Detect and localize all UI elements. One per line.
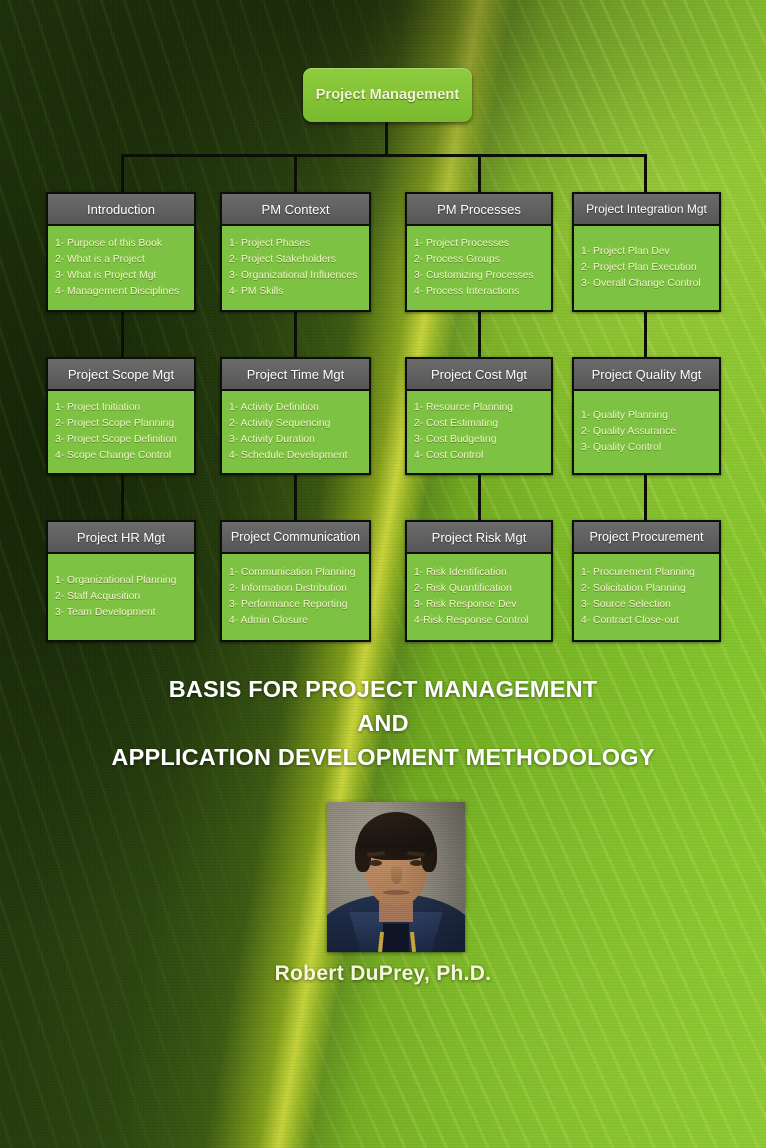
org-node-item: 4- Process Interactions	[414, 284, 551, 300]
author-name: Robert DuPrey, Ph.D.	[0, 962, 766, 986]
org-node-item: 1- Risk Identification	[414, 565, 551, 581]
org-node-item: 1- Communication Planning	[229, 565, 369, 581]
org-node-header: Project Cost Mgt	[407, 359, 551, 391]
org-node-item: 4- Contract Close-out	[581, 613, 719, 629]
org-node-body: 1- Procurement Planning 2- Solicitation …	[574, 554, 719, 640]
org-node-header: Introduction	[48, 194, 194, 226]
org-chart: Project Management Introduction 1- Purpo…	[0, 0, 766, 660]
org-node-header: Project Integration Mgt	[574, 194, 719, 226]
org-node-item: 2- Risk Quantification	[414, 581, 551, 597]
org-node-body: 1- Project Plan Dev 2- Project Plan Exec…	[574, 226, 719, 310]
author-photo	[327, 802, 465, 952]
org-node: Project Cost Mgt 1- Resource Planning 2-…	[405, 357, 553, 475]
connector-col1-row1-row2	[121, 306, 124, 357]
org-node-item: 1- Purpose of this Book	[55, 236, 194, 252]
connector-drop-col4	[644, 154, 647, 192]
org-node-header: Project Time Mgt	[222, 359, 369, 391]
org-node-item: 3- Performance Reporting	[229, 597, 369, 613]
org-root-node: Project Management	[303, 68, 472, 122]
org-node-item: 3- Cost Budgeting	[414, 432, 551, 448]
connector-col2-row2-row3	[294, 471, 297, 520]
org-node-body: 1- Purpose of this Book 2- What is a Pro…	[48, 226, 194, 310]
org-node-header: Project Procurement	[574, 522, 719, 554]
org-node-item: 2- Solicitation Planning	[581, 581, 719, 597]
connector-drop-col1	[121, 154, 124, 192]
org-node-header: Project Communication	[222, 522, 369, 554]
org-node-item: 1- Quality Planning	[581, 408, 719, 424]
org-node: Project Communication 1- Communication P…	[220, 520, 371, 642]
org-node-item: 4-Risk Response Control	[414, 613, 551, 629]
org-node-item: 3- Project Scope Definition	[55, 432, 194, 448]
org-node: Introduction 1- Purpose of this Book 2- …	[46, 192, 196, 312]
org-node-item: 3- Activity Duration	[229, 432, 369, 448]
connector-drop-col2	[294, 154, 297, 192]
org-node-title: Project Time Mgt	[247, 367, 345, 382]
org-node-item: 4- Admin Closure	[229, 613, 369, 629]
org-node: Project Scope Mgt 1- Project Initiation …	[46, 357, 196, 475]
connector-drop-col3	[478, 154, 481, 192]
org-node-title: Introduction	[87, 202, 155, 217]
org-node-title: Project HR Mgt	[77, 530, 165, 545]
org-node-body: 1- Activity Definition 2- Activity Seque…	[222, 391, 369, 473]
org-node-item: 2- Cost Estimating	[414, 416, 551, 432]
org-node-item: 3- Overall Change Control	[581, 276, 719, 292]
org-node-item: 2- Project Scope Planning	[55, 416, 194, 432]
org-node-item: 3- Risk Response Dev	[414, 597, 551, 613]
org-node: Project HR Mgt 1- Organizational Plannin…	[46, 520, 196, 642]
connector-col1-row2-row3	[121, 471, 124, 520]
org-node-header: PM Context	[222, 194, 369, 226]
org-node: Project Integration Mgt 1- Project Plan …	[572, 192, 721, 312]
org-node-body: 1- Project Phases 2- Project Stakeholder…	[222, 226, 369, 310]
org-node-title: Project Risk Mgt	[432, 530, 527, 545]
org-node-item: 2- Information Distribution	[229, 581, 369, 597]
org-node-title: Project Procurement	[590, 530, 704, 544]
title-line-3: APPLICATION DEVELOPMENT METHODOLOGY	[0, 740, 766, 774]
org-node-item: 3- Source Selection	[581, 597, 719, 613]
org-node-body: 1- Quality Planning 2- Quality Assurance…	[574, 391, 719, 473]
org-node-title: Project Cost Mgt	[431, 367, 527, 382]
org-node: Project Procurement 1- Procurement Plann…	[572, 520, 721, 642]
cover-title: BASIS FOR PROJECT MANAGEMENT AND APPLICA…	[0, 672, 766, 774]
org-node-title: Project Communication	[231, 530, 360, 544]
org-node-body: 1- Organizational Planning 2- Staff Acqu…	[48, 554, 194, 640]
org-node-item: 1- Project Processes	[414, 236, 551, 252]
org-node-title: PM Context	[262, 202, 330, 217]
org-node-header: Project Risk Mgt	[407, 522, 551, 554]
org-node-body: 1- Resource Planning 2- Cost Estimating …	[407, 391, 551, 473]
org-node-item: 2- Activity Sequencing	[229, 416, 369, 432]
org-node-header: Project Quality Mgt	[574, 359, 719, 391]
org-node: PM Processes 1- Project Processes 2- Pro…	[405, 192, 553, 312]
org-node: PM Context 1- Project Phases 2- Project …	[220, 192, 371, 312]
org-node-item: 1- Project Plan Dev	[581, 244, 719, 260]
connector-col3-row1-row2	[478, 306, 481, 357]
org-node-title: Project Scope Mgt	[68, 367, 174, 382]
org-node-item: 3- Quality Control	[581, 440, 719, 456]
org-node-item: 1- Project Phases	[229, 236, 369, 252]
org-node-item: 4- Scope Change Control	[55, 448, 194, 464]
title-line-1: BASIS FOR PROJECT MANAGEMENT	[0, 672, 766, 706]
org-node-item: 4- Schedule Development	[229, 448, 369, 464]
connector-col3-row2-row3	[478, 471, 481, 520]
connector-col4-row2-row3	[644, 471, 647, 520]
connector-col4-row1-row2	[644, 306, 647, 357]
org-root-label: Project Management	[316, 87, 460, 103]
org-node-item: 2- Staff Acquisition	[55, 589, 194, 605]
org-node-header: Project Scope Mgt	[48, 359, 194, 391]
org-node-item: 2- What is a Project	[55, 252, 194, 268]
book-cover: Project Management Introduction 1- Purpo…	[0, 0, 766, 1148]
org-node-title: Project Quality Mgt	[592, 367, 702, 382]
org-node-item: 3- Team Development	[55, 605, 194, 621]
connector-col2-row1-row2	[294, 306, 297, 357]
org-node: Project Time Mgt 1- Activity Definition …	[220, 357, 371, 475]
org-node-item: 1- Activity Definition	[229, 400, 369, 416]
org-node-item: 1- Procurement Planning	[581, 565, 719, 581]
org-node-item: 4- PM Skills	[229, 284, 369, 300]
org-node-item: 3- Organizational Influences	[229, 268, 369, 284]
org-node: Project Risk Mgt 1- Risk Identification …	[405, 520, 553, 642]
connector-bus-row1	[121, 154, 647, 157]
org-node: Project Quality Mgt 1- Quality Planning …	[572, 357, 721, 475]
photo-grain	[327, 802, 465, 952]
connector-root-stem	[385, 122, 388, 155]
org-node-item: 2- Project Plan Execution	[581, 260, 719, 276]
org-node-header: PM Processes	[407, 194, 551, 226]
org-node-title: PM Processes	[437, 202, 521, 217]
org-node-item: 4- Management Disciplines	[55, 284, 194, 300]
org-node-body: 1- Risk Identification 2- Risk Quantific…	[407, 554, 551, 640]
org-node-body: 1- Communication Planning 2- Information…	[222, 554, 369, 640]
org-node-item: 2- Project Stakeholders	[229, 252, 369, 268]
org-node-item: 1- Resource Planning	[414, 400, 551, 416]
org-node-item: 4- Cost Control	[414, 448, 551, 464]
title-line-2: AND	[0, 706, 766, 740]
org-node-header: Project HR Mgt	[48, 522, 194, 554]
org-node-title: Project Integration Mgt	[586, 202, 707, 216]
org-node-item: 2- Process Groups	[414, 252, 551, 268]
org-node-item: 2- Quality Assurance	[581, 424, 719, 440]
org-node-body: 1- Project Initiation 2- Project Scope P…	[48, 391, 194, 473]
org-node-item: 1- Project Initiation	[55, 400, 194, 416]
org-node-item: 3- Customizing Processes	[414, 268, 551, 284]
org-node-body: 1- Project Processes 2- Process Groups 3…	[407, 226, 551, 310]
org-node-item: 1- Organizational Planning	[55, 573, 194, 589]
org-node-item: 3- What is Project Mgt	[55, 268, 194, 284]
